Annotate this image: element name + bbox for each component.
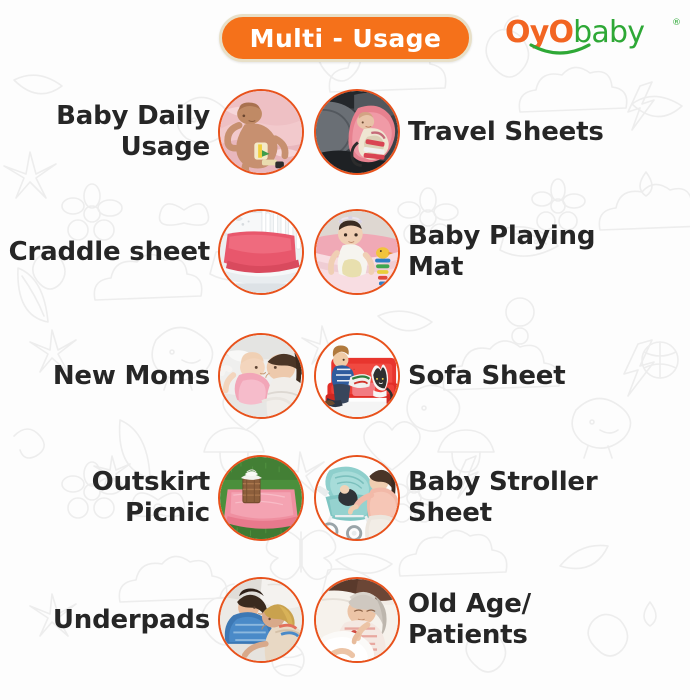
- usage-label-new-moms: New Moms: [0, 361, 218, 392]
- green-smile-arc-icon: [529, 43, 591, 57]
- mother-nuzzling-newborn-on-bed-photo: [218, 333, 304, 419]
- white-crib-with-pink-cradle-sheet-photo: [218, 209, 304, 295]
- photo-image: [316, 579, 398, 661]
- usage-label-baby-stroller-sheet: Baby Stroller Sheet: [400, 467, 618, 529]
- photo-image: [316, 335, 398, 417]
- registered-trademark-icon: ®: [672, 18, 681, 28]
- badge-label: Multi - Usage: [250, 24, 442, 53]
- usage-label-travel-sheets: Travel Sheets: [400, 117, 618, 148]
- usage-label-outskirt-picnic: Outskirt Picnic: [0, 467, 218, 529]
- usage-label-baby-playing-mat: Baby Playing Mat: [400, 221, 618, 283]
- usage-row: New Moms: [0, 326, 690, 426]
- photo-image: [220, 579, 302, 661]
- newborn-baby-on-pink-sheet-photo: [218, 89, 304, 175]
- usage-row: Underpads: [0, 570, 690, 670]
- oyobaby-logo: OyObaby ®: [505, 16, 680, 62]
- usage-row: Baby Daily Usage: [0, 82, 690, 182]
- multi-usage-badge: Multi - Usage: [219, 14, 472, 62]
- pink-picnic-blanket-on-grass-with-basket-photo: [218, 455, 304, 541]
- photo-image: [220, 335, 302, 417]
- boy-reading-on-red-sofa-with-cat-photo: [314, 333, 400, 419]
- photo-image: [220, 457, 302, 539]
- usage-label-old-age-patients: Old Age/ Patients: [400, 589, 618, 651]
- usage-row: Outskirt Picnic: [0, 448, 690, 548]
- usage-label-baby-daily-usage: Baby Daily Usage: [0, 101, 218, 163]
- woman-with-baby-in-teal-stroller-photo: [314, 455, 400, 541]
- elderly-woman-resting-in-bed-photo: [314, 577, 400, 663]
- header: Multi - Usage OyObaby ®: [0, 0, 690, 80]
- photo-image: [220, 211, 302, 293]
- usage-label-craddle-sheet: Craddle sheet: [0, 237, 218, 268]
- baby-in-car-seat-on-pink-sheet-photo: [314, 89, 400, 175]
- photo-image: [316, 211, 398, 293]
- photo-image: [316, 457, 398, 539]
- infographic-page: Multi - Usage OyObaby ® Baby Daily Usage: [0, 0, 690, 700]
- photo-image: [220, 91, 302, 173]
- baby-with-stacking-ring-toy-on-pink-mat-photo: [314, 209, 400, 295]
- usage-label-sofa-sheet: Sofa Sheet: [400, 361, 618, 392]
- couple-lying-in-bed-photo: [218, 577, 304, 663]
- usage-row: Craddle sheet: [0, 202, 690, 302]
- usage-label-underpads: Underpads: [0, 605, 218, 636]
- leaf-doodle: [560, 545, 608, 568]
- photo-image: [316, 91, 398, 173]
